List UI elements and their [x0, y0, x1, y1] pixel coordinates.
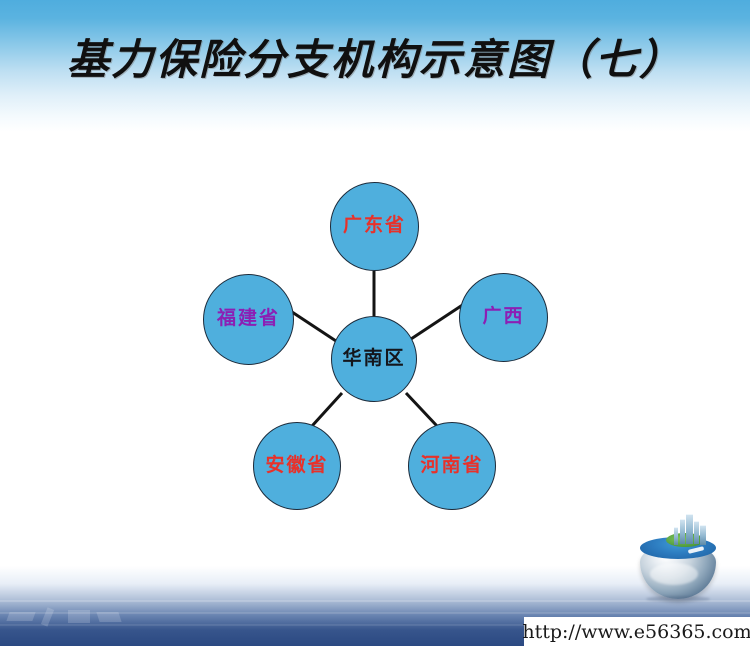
node-huanan-label: 华南区 — [342, 349, 405, 368]
node-huanan-center[interactable]: 华南区 — [331, 316, 417, 402]
node-guangdong[interactable]: 广东省 — [330, 182, 419, 271]
node-anhui[interactable]: 安徽省 — [253, 422, 341, 510]
watermark-url: http://www.e56365.com — [522, 621, 750, 643]
edge-center-anhui — [312, 393, 342, 426]
node-guangxi-label: 广西 — [482, 307, 524, 326]
node-guangxi[interactable]: 广西 — [459, 273, 548, 362]
node-anhui-label: 安徽省 — [265, 456, 328, 475]
node-henan[interactable]: 河南省 — [408, 422, 496, 510]
edge-center-guangxi — [411, 304, 464, 339]
node-fujian[interactable]: 福建省 — [203, 274, 294, 365]
edge-center-fujian — [289, 310, 336, 341]
edge-center-henan — [406, 393, 437, 426]
node-henan-label: 河南省 — [420, 456, 483, 475]
watermark-url-box: http://www.e56365.com — [524, 617, 750, 646]
slide-canvas: 基力保险分支机构示意图（七） 广东省 广西 河南省 — [0, 0, 750, 646]
globe-city-logo — [636, 523, 720, 601]
node-guangdong-label: 广东省 — [343, 216, 406, 235]
node-fujian-label: 福建省 — [217, 309, 280, 328]
